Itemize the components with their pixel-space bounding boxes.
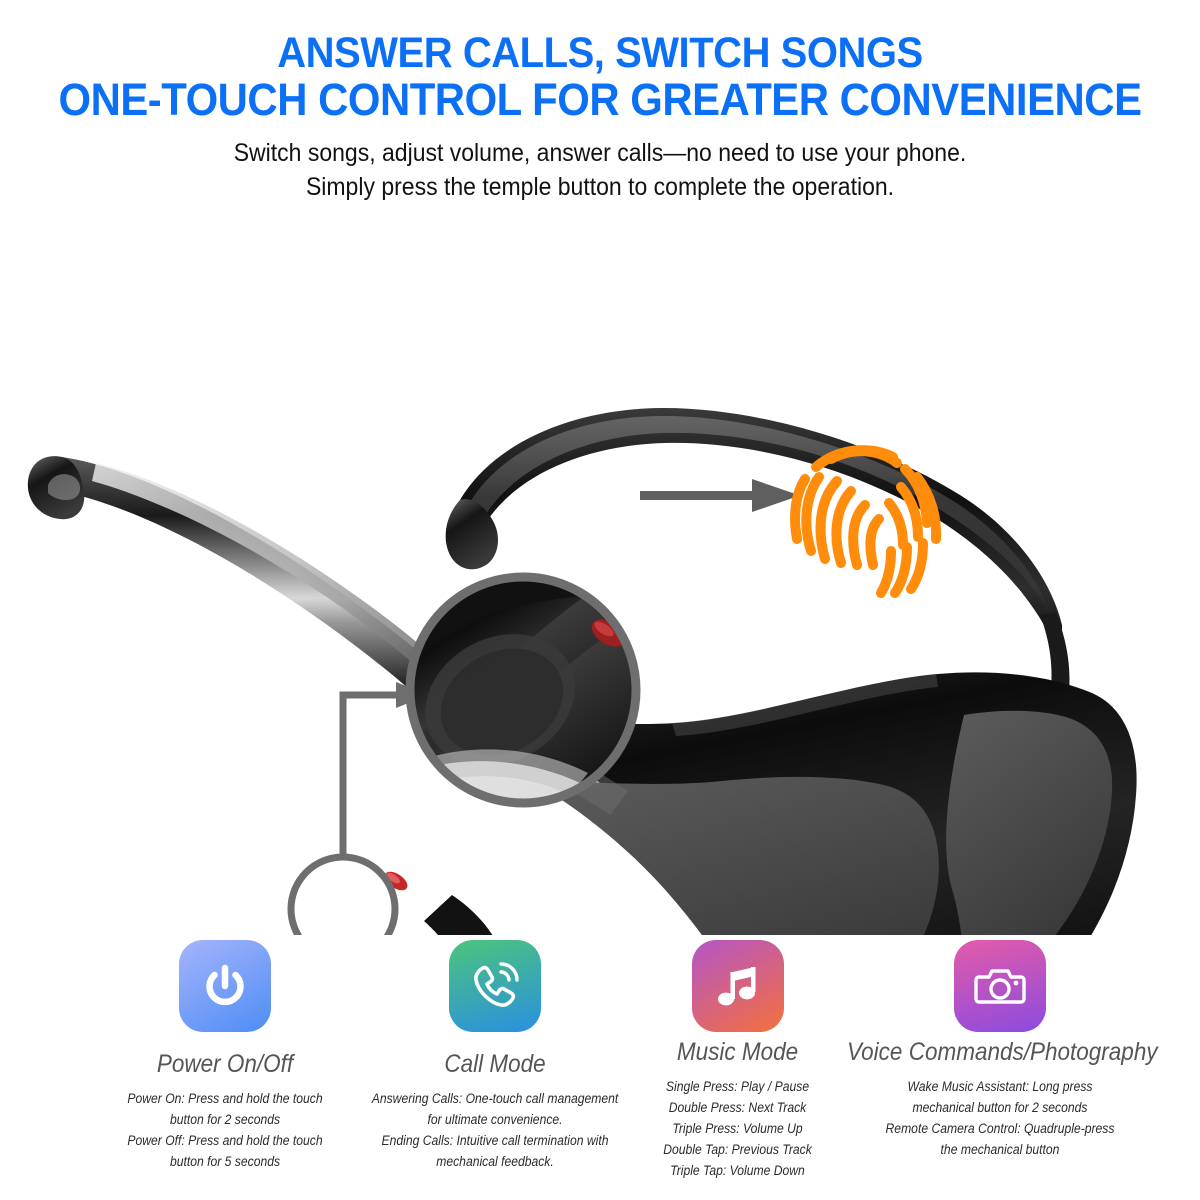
feature-power: Power On/Off Power On: Press and hold th… [75,940,375,1173]
product-image [0,195,1200,935]
feature-title: Voice Commands/Photography [847,1038,1153,1067]
feature-desc: Answering Calls: One-touch call manageme… [356,1089,635,1173]
feature-title: Power On/Off [90,1050,360,1079]
feature-title: Call Mode [356,1050,635,1079]
feature-list: Power On/Off Power On: Press and hold th… [0,930,1200,1200]
feature-call: Call Mode Answering Calls: One-touch cal… [340,940,650,1173]
callout-leader-line [343,695,398,857]
music-note-icon [692,940,784,1032]
feature-title: Music Mode [618,1038,857,1067]
phone-call-icon [449,940,541,1032]
callout-marker [291,857,395,935]
feature-desc: Power On: Press and hold the touch butto… [90,1089,360,1173]
feature-desc: Single Press: Play / Pause Double Press:… [618,1077,857,1182]
feature-desc: Wake Music Assistant: Long press mechani… [847,1077,1153,1161]
header-block: ANSWER CALLS, SWITCH SONGS ONE-TOUCH CON… [0,0,1200,203]
headline-line-1: ANSWER CALLS, SWITCH SONGS [42,30,1158,76]
power-icon [179,940,271,1032]
magnifier-to-fingerprint-arrow [640,479,800,512]
subline-1: Switch songs, adjust volume, answer call… [48,137,1152,169]
camera-icon [954,940,1046,1032]
feature-voice: Voice Commands/Photography Wake Music As… [830,940,1170,1161]
headline-line-2: ONE-TOUCH CONTROL FOR GREATER CONVENIENC… [42,76,1158,125]
